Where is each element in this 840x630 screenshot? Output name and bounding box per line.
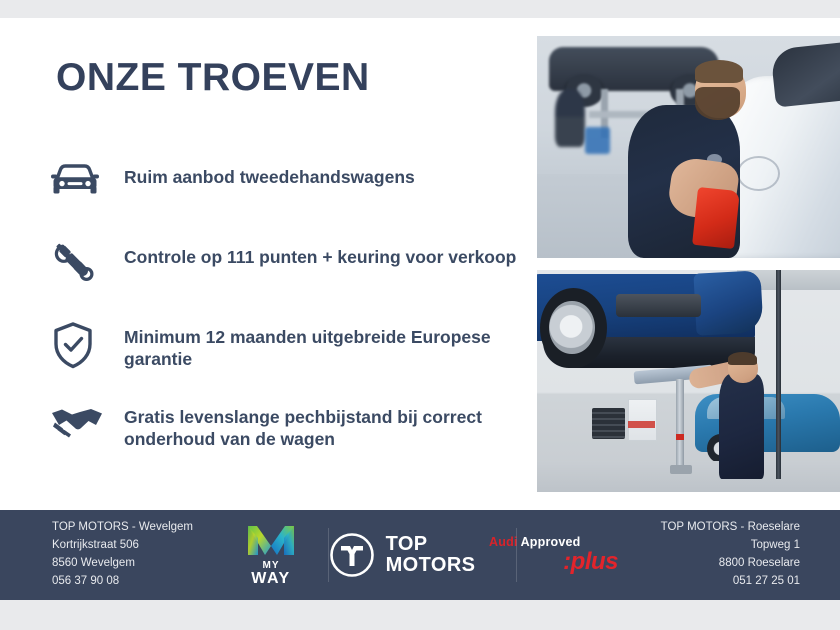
logo-divider xyxy=(516,528,517,582)
handshake-icon xyxy=(50,398,124,440)
myway-line-2: WAY xyxy=(251,571,290,587)
myway-logo[interactable]: MY WAY xyxy=(228,524,314,587)
footer-address-line: Topweg 1 xyxy=(661,537,800,555)
audi-approved-row: AudiApproved xyxy=(489,536,581,549)
car-front-icon xyxy=(50,158,124,200)
topmotors-circle-t-icon xyxy=(328,531,376,579)
car-on-lift-photo xyxy=(537,270,840,492)
content-card: ONZE TROEVEN xyxy=(0,18,840,600)
footer-address-line: TOP MOTORS - Roeselare xyxy=(661,519,800,537)
list-item: Controle op 111 punten + keuring voor ve… xyxy=(50,238,520,296)
features-list: Ruim aanbod tweedehandswagens xyxy=(50,158,520,478)
list-item-label: Minimum 12 maanden uitgebreide Europese … xyxy=(124,318,520,371)
mechanic-with-taillight-photo xyxy=(537,36,840,258)
list-item: Gratis levenslange pechbijstand bij corr… xyxy=(50,398,520,456)
myway-wordmark: MY WAY xyxy=(251,561,290,587)
footer-address-line: Kortrijkstraat 506 xyxy=(52,537,193,555)
footer-address-wevelgem: TOP MOTORS - Wevelgem Kortrijkstraat 506… xyxy=(52,519,193,590)
myway-x-icon xyxy=(245,524,297,558)
list-item-label: Controle op 111 punten + keuring voor ve… xyxy=(124,238,516,268)
logo-divider xyxy=(328,528,329,582)
audi-brand-label: Audi xyxy=(489,535,518,549)
footer-phone[interactable]: 056 37 90 08 xyxy=(52,573,193,591)
myway-line-1: MY xyxy=(251,561,290,571)
topmotors-wordmark: TOP MOTORS xyxy=(386,534,476,576)
audi-approved-plus-logo[interactable]: AudiApproved :plus xyxy=(489,536,624,574)
footer-phone[interactable]: 051 27 25 01 xyxy=(661,573,800,591)
footer-address-line: 8560 Wevelgem xyxy=(52,555,193,573)
list-item: Minimum 12 maanden uitgebreide Europese … xyxy=(50,318,520,376)
footer-logo-strip: MY WAY TOP MOTORS xyxy=(228,510,628,600)
list-item: Ruim aanbod tweedehandswagens xyxy=(50,158,520,216)
list-item-label: Gratis levenslange pechbijstand bij corr… xyxy=(124,398,520,451)
footer-address-line: TOP MOTORS - Wevelgem xyxy=(52,519,193,537)
plus-label: :plus xyxy=(563,549,618,574)
shield-check-icon xyxy=(50,318,124,370)
footer-bar: TOP MOTORS - Wevelgem Kortrijkstraat 506… xyxy=(0,510,840,600)
footer-address-roeselare: TOP MOTORS - Roeselare Topweg 1 8800 Roe… xyxy=(661,519,800,590)
page-title: ONZE TROEVEN xyxy=(56,58,370,97)
left-pane: ONZE TROEVEN xyxy=(0,18,524,510)
wrench-screwdriver-icon xyxy=(50,238,124,286)
list-item-label: Ruim aanbod tweedehandswagens xyxy=(124,158,415,188)
topmotors-logo[interactable]: TOP MOTORS xyxy=(314,531,489,579)
topmotors-line-2: MOTORS xyxy=(386,555,476,576)
topmotors-line-1: TOP xyxy=(386,534,476,555)
footer-address-line: 8800 Roeselare xyxy=(661,555,800,573)
screenshot-root: ONZE TROEVEN xyxy=(0,0,840,630)
